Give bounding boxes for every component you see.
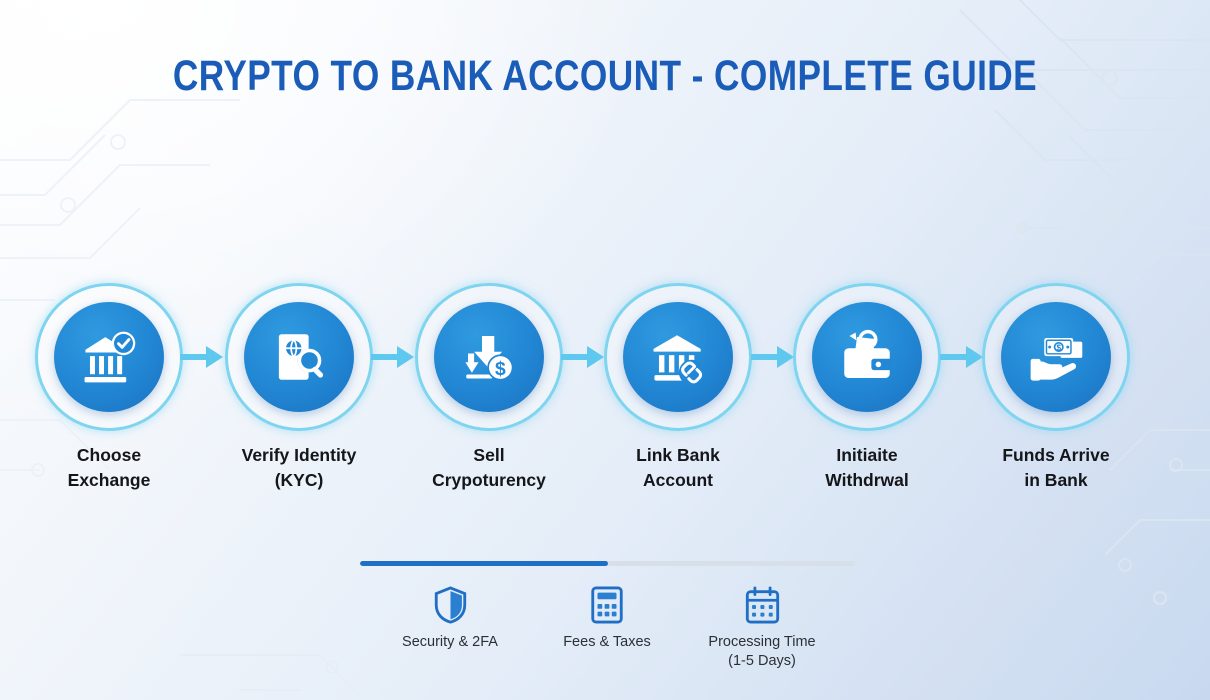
step-circle[interactable]: $ (982, 283, 1130, 431)
calculator-icon (590, 586, 624, 624)
arrow-icon-3 (561, 341, 605, 373)
step-circle[interactable] (35, 283, 183, 431)
step-circle[interactable] (604, 283, 752, 431)
step-sell-crypto[interactable]: $ SellCrypoturency (415, 283, 563, 439)
steps-row: ChooseExchange (0, 283, 1210, 443)
step-circle[interactable] (225, 283, 373, 431)
step-disc (623, 302, 733, 412)
step-label: ChooseExchange (11, 443, 207, 493)
bank-link-icon (649, 328, 707, 386)
calendar-icon-wrap (662, 585, 862, 625)
progress-bar[interactable] (360, 561, 855, 566)
svg-text:$: $ (495, 359, 506, 380)
step-label: Link BankAccount (580, 443, 776, 493)
step-disc (812, 302, 922, 412)
step-circle[interactable] (793, 283, 941, 431)
arrow-icon-2 (371, 341, 415, 373)
infographic-canvas: CRYPTO TO BANK ACCOUNT - COMPLETE GUIDE (0, 0, 1210, 700)
step-label: Funds Arrivein Bank (958, 443, 1154, 493)
hand-cash-icon: $ (1027, 328, 1085, 386)
arrow-icon-1 (180, 341, 224, 373)
feature-processing-time[interactable]: Processing Time (1-5 Days) (662, 585, 862, 671)
arrow-icon-4 (751, 341, 795, 373)
step-disc (244, 302, 354, 412)
id-document-search-icon (271, 329, 327, 385)
step-link-bank-account[interactable]: Link BankAccount (604, 283, 752, 439)
page-title: CRYPTO TO BANK ACCOUNT - COMPLETE GUIDE (109, 52, 1101, 101)
feature-label: Processing Time (1-5 Days) (662, 633, 862, 671)
step-circle[interactable]: $ (415, 283, 563, 431)
step-funds-arrive[interactable]: $ Funds Arrivein Bank (982, 283, 1130, 439)
step-label: SellCrypoturency (391, 443, 587, 493)
calendar-icon (745, 586, 780, 624)
step-verify-identity[interactable]: Verify Identity(KYC) (225, 283, 373, 439)
wallet-withdraw-icon (839, 329, 895, 385)
step-disc: $ (1001, 302, 1111, 412)
progress-bar-fill (360, 561, 608, 566)
step-initiate-withdrawal[interactable]: InitiaiteWithdrwal (793, 283, 941, 439)
step-disc: $ (434, 302, 544, 412)
arrow-icon-5 (940, 341, 984, 373)
step-label: Verify Identity(KYC) (201, 443, 397, 493)
step-choose-exchange[interactable]: ChooseExchange (35, 283, 183, 439)
step-disc (54, 302, 164, 412)
shield-icon (434, 586, 467, 624)
svg-text:$: $ (1056, 344, 1061, 353)
feature-row: Security & 2FA Fees & Taxes (0, 585, 1210, 685)
sell-crypto-dollar-icon: $ (461, 329, 517, 385)
step-label: InitiaiteWithdrwal (769, 443, 965, 493)
bank-check-icon (80, 328, 138, 386)
